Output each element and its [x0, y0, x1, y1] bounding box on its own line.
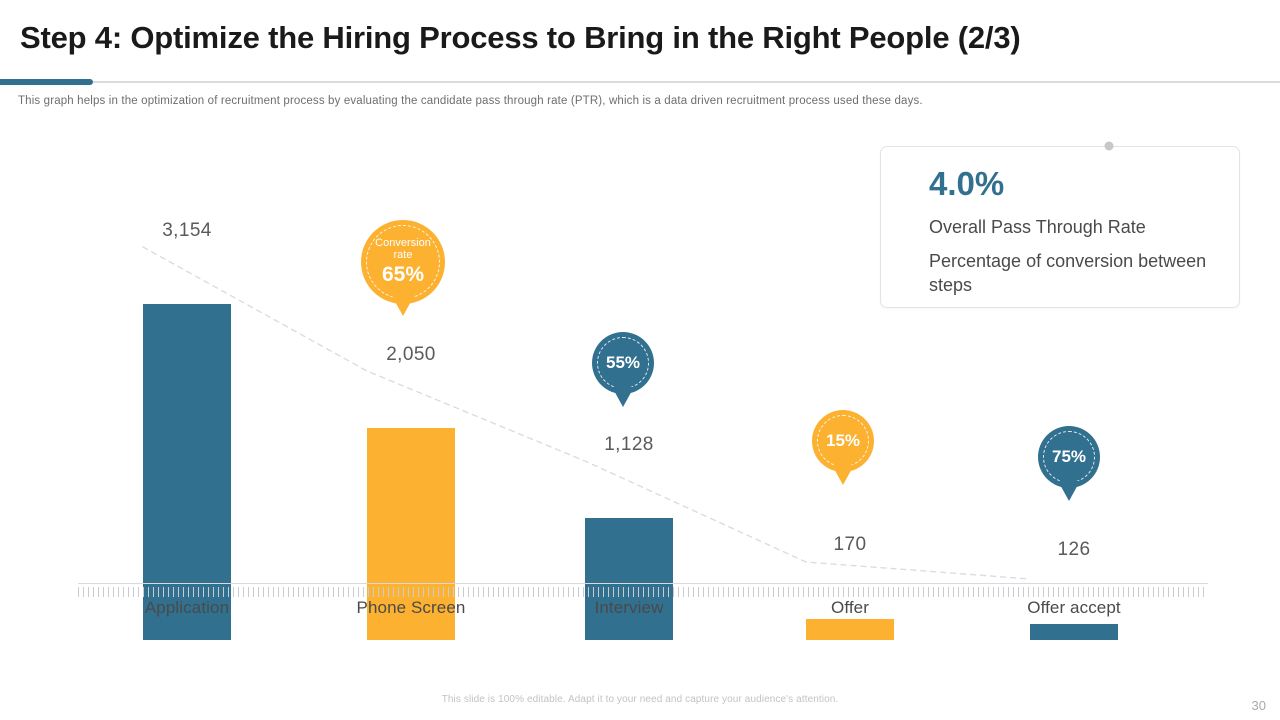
category-label-offer: Offer	[770, 598, 930, 618]
page-title: Step 4: Optimize the Hiring Process to B…	[20, 20, 1021, 56]
bubble-percent: 65%	[382, 264, 424, 286]
conversion-bubble-75: 75%	[1038, 426, 1100, 488]
category-label-offer-accept: Offer accept	[994, 598, 1154, 618]
bar-offer	[806, 619, 894, 640]
conversion-bubble-55: 55%	[592, 332, 654, 394]
bubble-percent: 75%	[1052, 448, 1086, 466]
overall-rate-value: 4.0%	[929, 165, 1004, 203]
x-axis-ruler	[78, 583, 1208, 597]
bubble-percent: 15%	[826, 432, 860, 450]
category-label-phone-screen: Phone Screen	[331, 598, 491, 618]
bar-value-interview: 1,128	[565, 434, 693, 456]
bar-value-application: 3,154	[123, 220, 251, 242]
bar-value-offer: 170	[786, 534, 914, 556]
footer-note: This slide is 100% editable. Adapt it to…	[0, 694, 1280, 705]
overall-rate-card: 4.0% Overall Pass Through Rate Percentag…	[880, 146, 1240, 308]
overall-rate-description: Percentage of conversion between steps	[929, 249, 1219, 298]
header-divider	[0, 79, 1280, 85]
overall-rate-label: Overall Pass Through Rate	[929, 217, 1146, 238]
divider-line	[0, 81, 1280, 83]
bubble-sub-bottom: rate	[394, 250, 413, 262]
bar-interview	[585, 518, 673, 640]
bar-offer-accept	[1030, 624, 1118, 640]
conversion-bubble-15: 15%	[812, 410, 874, 472]
bar-value-offer-accept: 126	[1010, 539, 1138, 561]
conversion-bubble-65: Conversion rate 65%	[361, 220, 445, 304]
card-anchor-dot-icon	[1105, 142, 1114, 151]
bubble-percent: 55%	[606, 354, 640, 372]
bar-value-phone-screen: 2,050	[347, 344, 475, 366]
page-number: 30	[1252, 698, 1266, 713]
slide-root: Step 4: Optimize the Hiring Process to B…	[0, 0, 1280, 720]
category-label-application: Application	[107, 598, 267, 618]
category-label-interview: Interview	[549, 598, 709, 618]
divider-accent	[0, 79, 93, 85]
subtitle-text: This graph helps in the optimization of …	[18, 95, 1118, 107]
